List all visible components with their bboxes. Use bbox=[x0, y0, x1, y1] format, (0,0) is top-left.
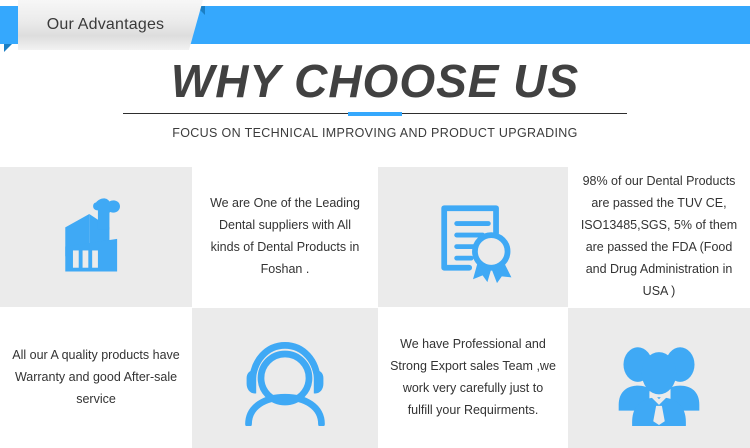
page-title: WHY CHOOSE US bbox=[0, 58, 750, 112]
feature-text: We have Professional and Strong Export s… bbox=[378, 334, 568, 422]
feature-text-cell-certifications: 98% of our Dental Products are passed th… bbox=[568, 167, 750, 307]
icon-wrapper bbox=[192, 308, 378, 448]
certificate-icon bbox=[425, 189, 521, 285]
team-icon bbox=[611, 330, 707, 426]
factory-icon bbox=[48, 189, 144, 285]
icon-wrapper bbox=[0, 167, 192, 307]
page-subtitle: FOCUS ON TECHNICAL IMPROVING AND PRODUCT… bbox=[0, 126, 750, 140]
feature-text: All our A quality products have Warranty… bbox=[0, 345, 192, 411]
tab-notch-bottom-icon bbox=[4, 44, 12, 52]
text-wrapper: All our A quality products have Warranty… bbox=[0, 308, 192, 448]
headset-support-icon bbox=[237, 330, 333, 426]
feature-text-cell-sales-team: We have Professional and Strong Export s… bbox=[378, 308, 568, 448]
text-wrapper: We have Professional and Strong Export s… bbox=[378, 308, 568, 448]
section-tab-label: Our Advantages bbox=[47, 16, 175, 34]
divider-accent bbox=[348, 112, 402, 116]
text-wrapper: We are One of the Leading Dental supplie… bbox=[192, 167, 378, 307]
title-divider bbox=[123, 112, 627, 115]
feature-icon-cell-certifications bbox=[378, 167, 568, 307]
feature-icon-cell-warranty-service bbox=[192, 308, 378, 448]
icon-wrapper bbox=[378, 167, 568, 307]
feature-text: We are One of the Leading Dental supplie… bbox=[192, 193, 378, 281]
advantages-row-top: We are One of the Leading Dental supplie… bbox=[0, 167, 750, 307]
text-wrapper: 98% of our Dental Products are passed th… bbox=[568, 167, 750, 307]
feature-text-cell-warranty-service: All our A quality products have Warranty… bbox=[0, 308, 192, 448]
icon-wrapper bbox=[568, 308, 750, 448]
feature-icon-cell-sales-team bbox=[568, 308, 750, 448]
section-tab-our-advantages[interactable]: Our Advantages bbox=[18, 0, 203, 50]
advantages-row-bottom: All our A quality products have Warranty… bbox=[0, 308, 750, 448]
feature-text-cell-leading-supplier: We are One of the Leading Dental supplie… bbox=[192, 167, 378, 307]
feature-icon-cell-leading-supplier bbox=[0, 167, 192, 307]
title-block: WHY CHOOSE US FOCUS ON TECHNICAL IMPROVI… bbox=[0, 58, 750, 140]
advantages-grid: We are One of the Leading Dental supplie… bbox=[0, 167, 750, 448]
feature-text: 98% of our Dental Products are passed th… bbox=[568, 171, 750, 302]
